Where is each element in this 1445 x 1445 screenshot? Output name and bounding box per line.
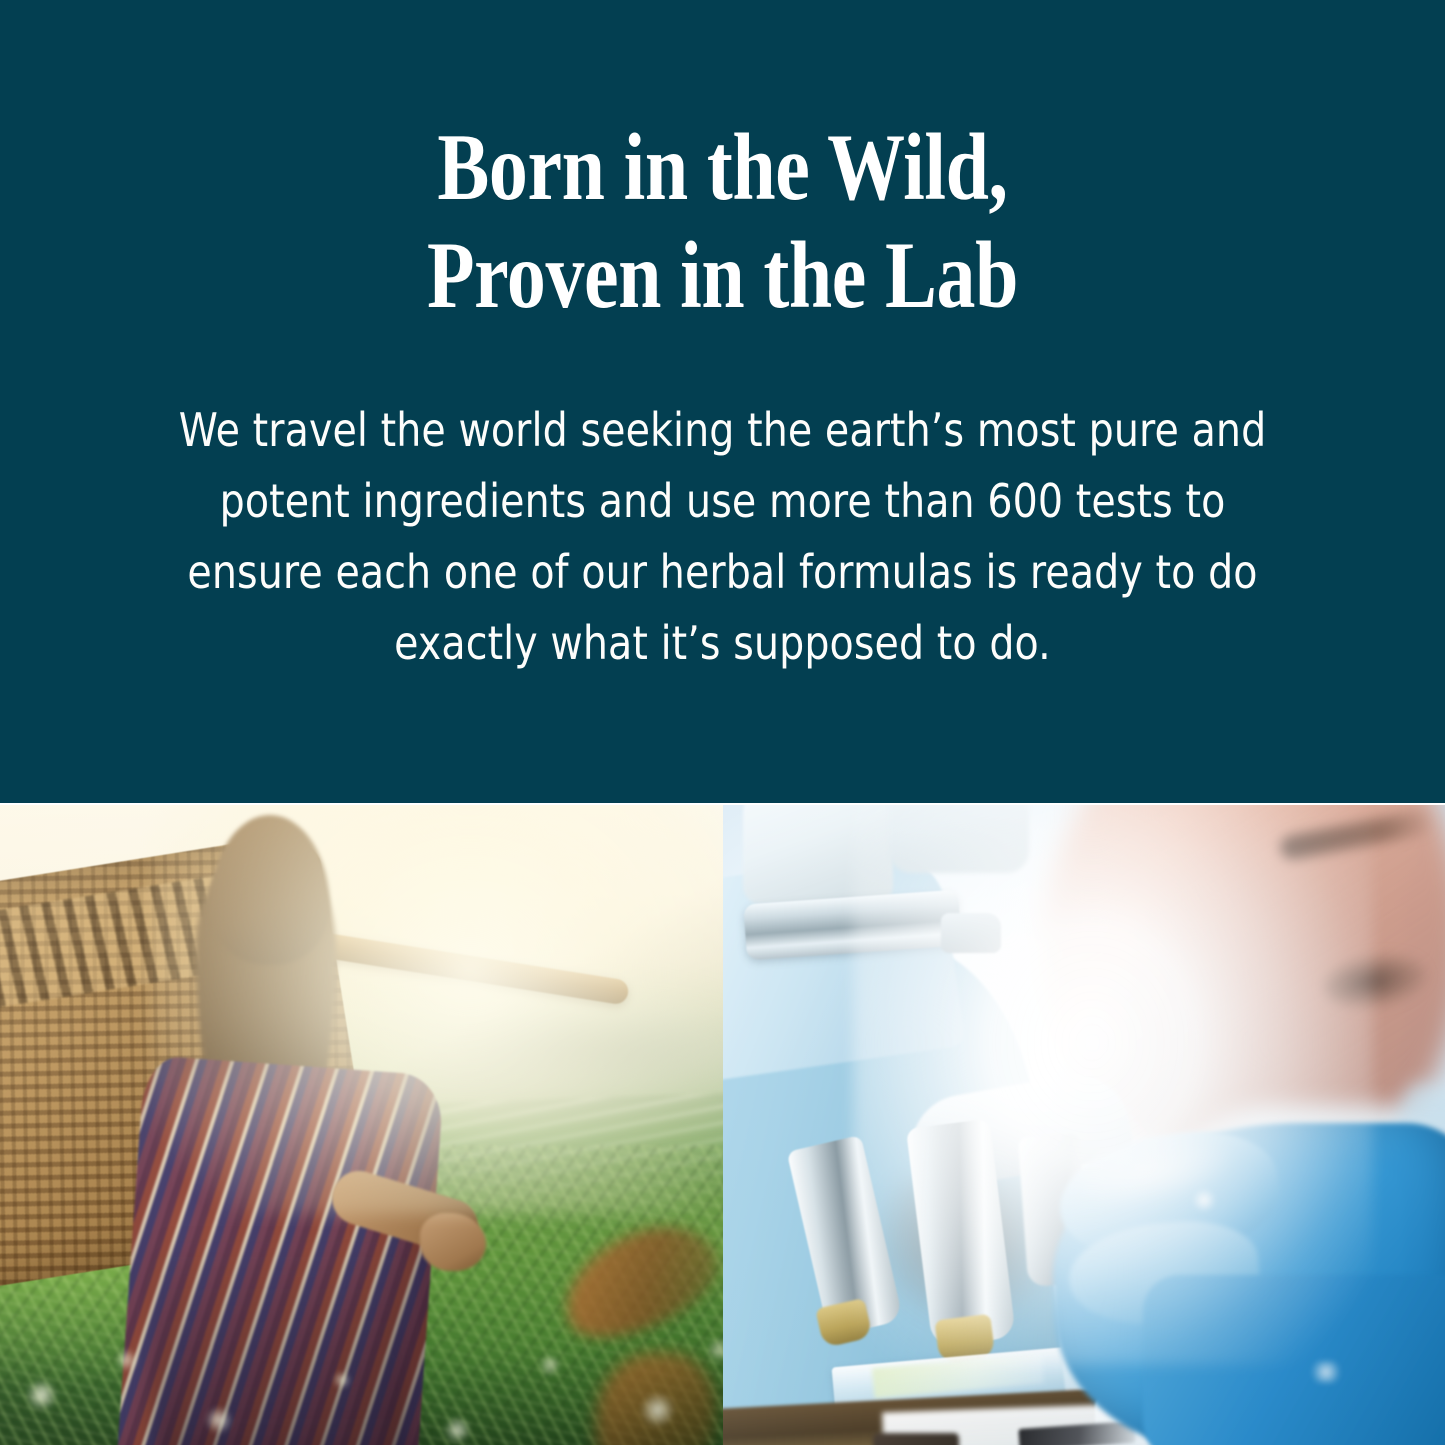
tea-harvester-photo xyxy=(0,805,723,1445)
brand-description-text: We travel the world seeking the earth’s … xyxy=(166,395,1280,679)
lab-microscope-photo xyxy=(723,805,1445,1445)
marketing-infographic: Born in the Wild, Proven in the Lab We t… xyxy=(0,0,1445,1445)
brand-message-panel: Born in the Wild, Proven in the Lab We t… xyxy=(0,0,1445,803)
page-title: Born in the Wild, Proven in the Lab xyxy=(130,113,1315,329)
warm-color-grade xyxy=(0,805,723,1445)
cool-color-grade xyxy=(723,805,1445,1445)
photo-strip xyxy=(0,805,1445,1445)
